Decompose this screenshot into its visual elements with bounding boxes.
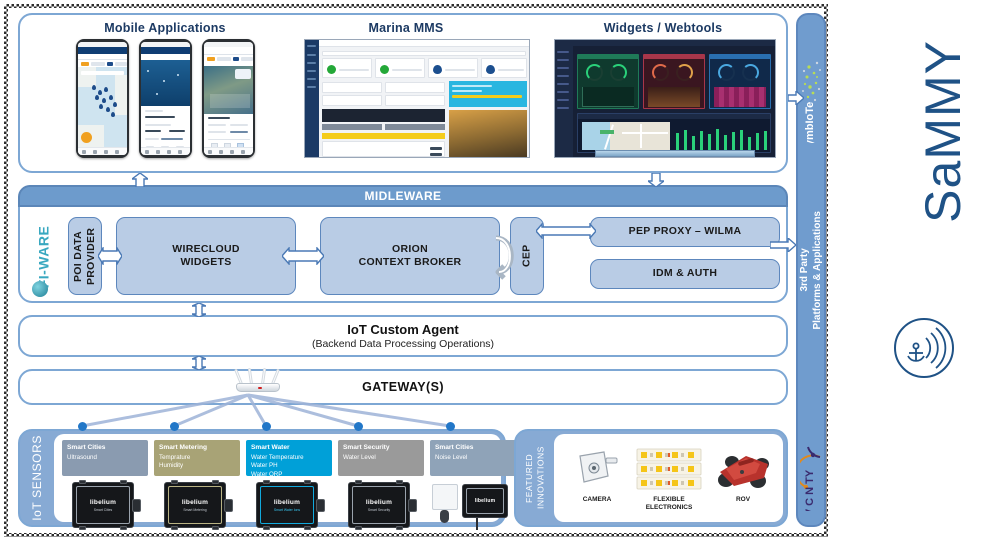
- sensor-card-smart-water[interactable]: Smart Water Water Temperature Water PH W…: [246, 440, 332, 476]
- marina-mms-screenshot: [304, 39, 530, 158]
- arrow-poi-wirecloud: [98, 247, 122, 265]
- iot-sensors-panel: IoT SENSORS Smart Cities Ultrasound libe…: [18, 429, 506, 527]
- libelium-device-3: libeliumSmart Water Ions: [256, 482, 318, 528]
- fiware-logo: FI-WARE: [26, 213, 60, 301]
- featured-innovations-label: FEATURED INNOVATIONS: [516, 431, 554, 525]
- camera-caption: CAMERA: [560, 496, 634, 504]
- arrow-middleware-thirdparty: [770, 238, 796, 252]
- widgets-dashboard-screenshot: [554, 39, 776, 158]
- fiware-mark-icon: [32, 281, 48, 297]
- wirecloud-line2: WIDGETS: [180, 256, 231, 269]
- arrow-mobileapps-middleware: [132, 173, 148, 187]
- sensor-5-title: Smart Cities: [435, 444, 511, 453]
- sensor-card-smart-metering[interactable]: Smart Metering Temprature Humidity libel…: [154, 440, 240, 476]
- sensor-link-dot-3: [262, 422, 271, 431]
- sensor-4-line-1: Water Level: [343, 454, 419, 462]
- phone-mockup-marina-reserve: [202, 39, 255, 158]
- rov-caption: ROV: [706, 496, 780, 504]
- sensor-link-dot-2: [170, 422, 179, 431]
- cep-label: CEP: [520, 245, 533, 268]
- sensor-card-smart-cities-ultrasound[interactable]: Smart Cities Ultrasound libeliumSmart Ci…: [62, 440, 148, 476]
- orion-line1: ORION: [392, 243, 428, 256]
- applications-panel: Mobile Applications Marina MMS Widgets /…: [18, 13, 788, 173]
- featured-item-camera[interactable]: CAMERA: [560, 442, 634, 504]
- sensor-link-dot-5: [446, 422, 455, 431]
- diagram-root: Mobile Applications Marina MMS Widgets /…: [0, 0, 1000, 541]
- sensor-3-line-1: Water Temperature: [251, 454, 327, 462]
- widgets-webtools-title: Widgets / Webtools: [548, 21, 778, 35]
- block-pep-proxy-wilma[interactable]: PEP PROXY – WILMA: [590, 217, 780, 247]
- arrow-wirecloud-orion: [282, 247, 324, 265]
- sensor-2-line-1: Temprature: [159, 454, 235, 462]
- sensor-3-line-2: Water PH: [251, 462, 327, 470]
- sensor-card-noise-level[interactable]: Smart Cities Noise Level libelium: [430, 440, 516, 476]
- sensor-2-title: Smart Metering: [159, 444, 235, 453]
- marina-mms-title: Marina MMS: [296, 21, 516, 35]
- arrow-widgets-middleware: [648, 173, 664, 187]
- sensor-1-line-1: Ultrasound: [67, 454, 143, 462]
- phone-mockup-find-marina: [139, 39, 192, 158]
- featured-item-flexible-electronics[interactable]: FLEXIBLE ELECTRONICS: [632, 442, 706, 513]
- libelium-device-2: libeliumSmart Metering: [164, 482, 226, 528]
- arrow-agent-gateway: [192, 356, 206, 370]
- sensor-5-line-1: Noise Level: [435, 454, 511, 462]
- arrow-middleware-agent: [192, 303, 206, 317]
- arrow-orion-cep-curved: [494, 232, 522, 280]
- block-idm-auth[interactable]: IDM & AUTH: [590, 259, 780, 289]
- sensor-link-dot-4: [354, 422, 363, 431]
- block-wirecloud-widgets[interactable]: WIRECLOUD WIDGETS: [116, 217, 296, 295]
- cctv-camera-icon: [560, 442, 634, 494]
- mobile-applications-title: Mobile Applications: [60, 21, 270, 35]
- iot-custom-agent-panel: IoT Custom Agent (Backend Data Processin…: [18, 315, 788, 357]
- idm-label: IDM & AUTH: [653, 267, 717, 280]
- arrow-cep-pep: [536, 223, 596, 239]
- iot-sensors-label: IoT SENSORS: [20, 431, 54, 525]
- vicinity-logo: V C N TY: [800, 431, 826, 511]
- sammy-wordmark: SaMMY: [914, 40, 972, 223]
- gateway-panel: GATEWAY(S): [18, 369, 788, 405]
- gateway-title: GATEWAY(S): [362, 380, 444, 394]
- svg-text:V C N TY: V C N TY: [804, 469, 816, 511]
- featured-innovations-panel: FEATURED INNOVATIONS CAMERA: [514, 429, 788, 527]
- block-poi-label: POI DATA PROVIDER: [72, 218, 98, 294]
- block-orion-context-broker[interactable]: ORION CONTEXT BROKER: [320, 217, 500, 295]
- sensor-1-title: Smart Cities: [67, 444, 143, 453]
- fiware-logo-text: FI-WARE: [35, 226, 51, 289]
- sensor-link-dot-1: [78, 422, 87, 431]
- agent-title: IoT Custom Agent: [347, 322, 458, 337]
- pep-label: PEP PROXY – WILMA: [629, 225, 742, 238]
- libelium-device-4: libeliumSmart Security: [348, 482, 410, 528]
- wirecloud-line1: WIRECLOUD: [172, 243, 239, 256]
- agent-subtitle: (Backend Data Processing Operations): [312, 338, 494, 350]
- noise-microphone-icon: [440, 510, 449, 523]
- flexible-electronics-icon: [632, 442, 706, 494]
- flexible-electronics-caption: FLEXIBLE ELECTRONICS: [632, 496, 706, 513]
- phone-mockup-marina-map: [76, 39, 129, 158]
- block-poi-data-provider[interactable]: POI DATA PROVIDER: [68, 217, 102, 295]
- wifi-router-icon: [232, 366, 284, 392]
- orion-line2: CONTEXT BROKER: [359, 256, 462, 269]
- sensor-cable: [476, 518, 478, 530]
- sensor-3-line-3: Water ORP: [251, 471, 327, 479]
- underwater-rov-icon: [706, 442, 780, 494]
- sensor-4-title: Smart Security: [343, 444, 419, 453]
- featured-item-rov[interactable]: ROV: [706, 442, 780, 504]
- middleware-panel: MIDLEWARE FI-WARE POI DATA PROVIDER WIRE…: [18, 185, 788, 303]
- anchor-signal-icon: [894, 318, 954, 378]
- sensor-3-title: Smart Water: [251, 444, 327, 453]
- sensor-card-smart-security[interactable]: Smart Security Water Level libeliumSmart…: [338, 440, 424, 476]
- noise-sensor-enclosure: [432, 484, 458, 510]
- sensor-2-line-2: Humidity: [159, 462, 235, 470]
- diagram-canvas: Mobile Applications Marina MMS Widgets /…: [10, 9, 822, 532]
- sammy-brand: SaMMY: [836, 0, 1000, 541]
- middleware-header: MIDLEWARE: [18, 185, 788, 207]
- libelium-device-1: libeliumSmart Cities: [72, 482, 134, 528]
- libelium-device-5: libelium: [462, 484, 508, 518]
- arrow-apps-thirdparty: [788, 91, 804, 105]
